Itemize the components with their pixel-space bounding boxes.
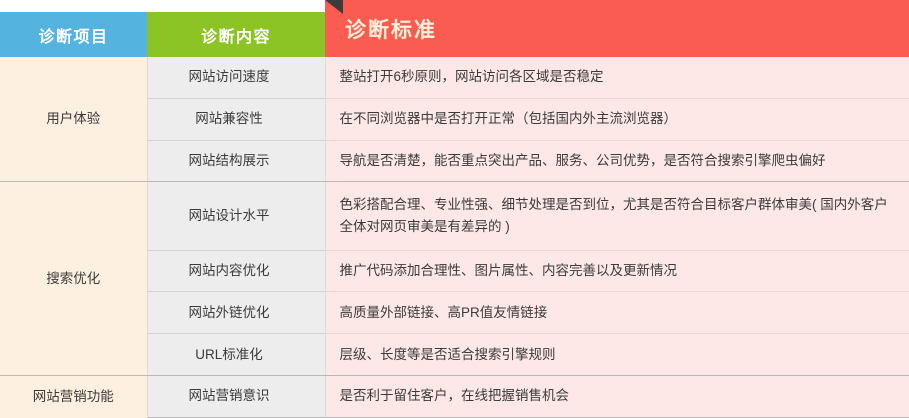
category-cell: 网站营销功能 <box>0 376 147 418</box>
diagnostic-table: 用户体验网站访问速度整站打开6秒原则，网站访问各区域是否稳定网站兼容性在不同浏览… <box>0 57 909 418</box>
table-row: 搜索优化网站设计水平色彩搭配合理、专业性强、细节处理是否到位，尤其是否符合目标客… <box>0 182 909 250</box>
header-cell-content: 诊断内容 <box>147 12 325 57</box>
standard-cell: 是否利于留住客户，在线把握销售机会 <box>325 376 909 418</box>
item-cell: 网站内容优化 <box>147 250 325 292</box>
standard-cell: 推广代码添加合理性、图片属性、内容完善以及更新情况 <box>325 250 909 292</box>
table-row: 网站营销功能网站营销意识是否利于留住客户，在线把握销售机会 <box>0 376 909 418</box>
standard-cell: 色彩搭配合理、专业性强、细节处理是否到位，尤其是否符合目标客户群体审美( 国内外… <box>325 182 909 250</box>
item-cell: 网站设计水平 <box>147 182 325 250</box>
category-cell: 用户体验 <box>0 57 147 182</box>
item-cell: 网站访问速度 <box>147 57 325 98</box>
category-cell: 搜索优化 <box>0 182 147 376</box>
item-cell: 网站外链优化 <box>147 292 325 334</box>
header-cell-project: 诊断项目 <box>0 12 147 57</box>
standard-cell: 高质量外部链接、高PR值友情链接 <box>325 292 909 334</box>
table-header-band: 诊断项目 诊断内容 诊断标准 <box>0 0 909 57</box>
standard-cell: 导航是否清楚，能否重点突出产品、服务、公司优势，是否符合搜索引擎爬虫偏好 <box>325 140 909 182</box>
table-row: 用户体验网站访问速度整站打开6秒原则，网站访问各区域是否稳定 <box>0 57 909 98</box>
diagnostic-criteria-table-page: 诊断项目 诊断内容 诊断标准 用户体验网站访问速度整站打开6秒原则，网站访问各区… <box>0 0 909 418</box>
item-cell: URL标准化 <box>147 334 325 376</box>
standard-cell: 层级、长度等是否适合搜索引擎规则 <box>325 334 909 376</box>
standard-cell: 在不同浏览器中是否打开正常（包括国内外主流浏览器） <box>325 98 909 140</box>
item-cell: 网站营销意识 <box>147 376 325 418</box>
table-body: 用户体验网站访问速度整站打开6秒原则，网站访问各区域是否稳定网站兼容性在不同浏览… <box>0 57 909 418</box>
ribbon-fold-icon <box>325 0 343 14</box>
standard-cell: 整站打开6秒原则，网站访问各区域是否稳定 <box>325 57 909 98</box>
item-cell: 网站兼容性 <box>147 98 325 140</box>
item-cell: 网站结构展示 <box>147 140 325 182</box>
header-cell-standard: 诊断标准 <box>325 0 909 57</box>
